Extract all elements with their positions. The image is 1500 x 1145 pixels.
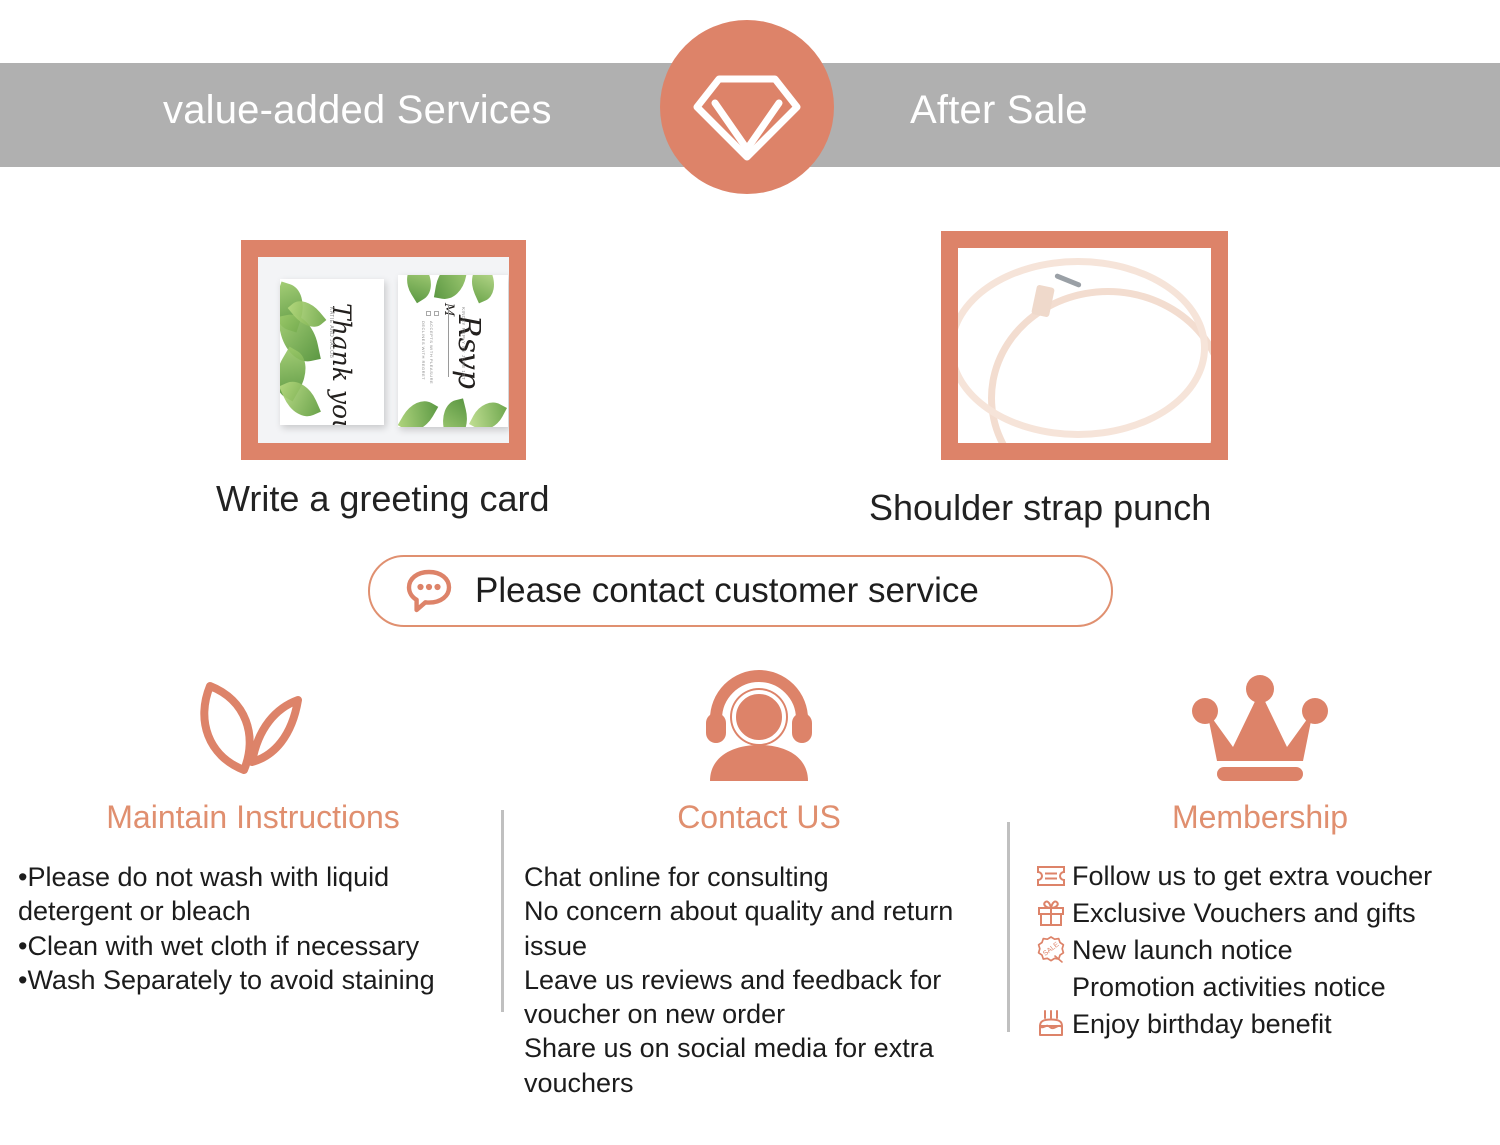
- membership-item-label: Promotion activities notice: [1072, 972, 1386, 1003]
- two-leaves-icon: [18, 665, 488, 785]
- maintain-line-3: •Wash Separately to avoid staining: [18, 963, 488, 997]
- list-item: Promotion activities notice: [1030, 969, 1490, 1005]
- sale-badge-icon: SALE: [1030, 935, 1072, 965]
- column-title-contact: Contact US: [524, 799, 994, 836]
- crown-icon: [1030, 665, 1490, 785]
- contact-line-4: Share us on social media for extra vouch…: [524, 1031, 994, 1100]
- bottom-columns: Maintain Instructions •Please do not was…: [0, 665, 1500, 1145]
- column-title-maintain: Maintain Instructions: [18, 799, 488, 836]
- header-title-right: After Sale: [910, 88, 1088, 133]
- list-item: Exclusive Vouchers and gifts: [1030, 895, 1490, 931]
- chat-bubble-icon: [405, 568, 453, 614]
- greeting-card-decline-text: DECLINES WITH REGRET: [421, 321, 426, 380]
- diamond-v-logo: [660, 20, 834, 194]
- membership-item-label: New launch notice: [1072, 935, 1293, 966]
- contact-line-1: Chat online for consulting: [524, 860, 994, 894]
- maintain-instructions-body: •Please do not wash with liquid detergen…: [18, 860, 488, 997]
- membership-item-label: Enjoy birthday benefit: [1072, 1009, 1332, 1040]
- column-divider-right: [1007, 822, 1010, 1032]
- column-divider-left: [501, 810, 504, 1012]
- ticket-icon: [1030, 864, 1072, 888]
- column-maintain-instructions: Maintain Instructions •Please do not was…: [18, 665, 488, 997]
- maintain-line-2: •Clean with wet cloth if necessary: [18, 929, 488, 963]
- shoulder-strap-photo: [941, 231, 1228, 460]
- greeting-card-rsvp-text: Rsvp: [451, 315, 486, 389]
- membership-benefits-list: Follow us to get extra voucher Exclusive…: [1030, 858, 1490, 1042]
- column-membership: Membership Follow us to get extra vouche…: [1030, 665, 1490, 1043]
- column-title-membership: Membership: [1030, 799, 1490, 836]
- contact-us-body: Chat online for consulting No concern ab…: [524, 860, 994, 1100]
- list-item: SALE New launch notice: [1030, 932, 1490, 968]
- birthday-cake-icon: [1030, 1009, 1072, 1039]
- greeting-card-couple-text: KATIE AND JACOB: [328, 307, 334, 358]
- header-title-left: value-added Services: [163, 88, 552, 133]
- gift-icon: [1030, 899, 1072, 927]
- contact-customer-service-label: Please contact customer service: [475, 571, 979, 611]
- contact-line-2: No concern about quality and return issu…: [524, 894, 994, 963]
- headset-person-icon: [524, 665, 994, 785]
- greeting-card-accept-text: ACCEPTS WITH PLEASURE: [429, 321, 434, 384]
- greeting-card-reply-text: KINDLY REPLY BY JUNE 1ST: [461, 307, 466, 380]
- membership-item-label: Follow us to get extra voucher: [1072, 861, 1432, 892]
- list-item: Follow us to get extra voucher: [1030, 858, 1490, 894]
- column-contact-us: Contact US Chat online for consulting No…: [524, 665, 994, 1100]
- membership-item-label: Exclusive Vouchers and gifts: [1072, 898, 1416, 929]
- maintain-line-1: •Please do not wash with liquid detergen…: [18, 860, 488, 929]
- svg-text:SALE: SALE: [1042, 941, 1061, 958]
- greeting-card-photo: Thank you KATIE AND JACOB Rsvp M KINDLY …: [241, 240, 526, 460]
- contact-customer-service-button[interactable]: Please contact customer service: [368, 555, 1113, 627]
- greeting-card-caption: Write a greeting card: [216, 478, 550, 520]
- contact-line-3: Leave us reviews and feedback for vouche…: [524, 963, 994, 1032]
- list-item: Enjoy birthday benefit: [1030, 1006, 1490, 1042]
- shoulder-strap-caption: Shoulder strap punch: [869, 487, 1211, 529]
- page-root: value-added Services After Sale Thank yo…: [0, 0, 1500, 1145]
